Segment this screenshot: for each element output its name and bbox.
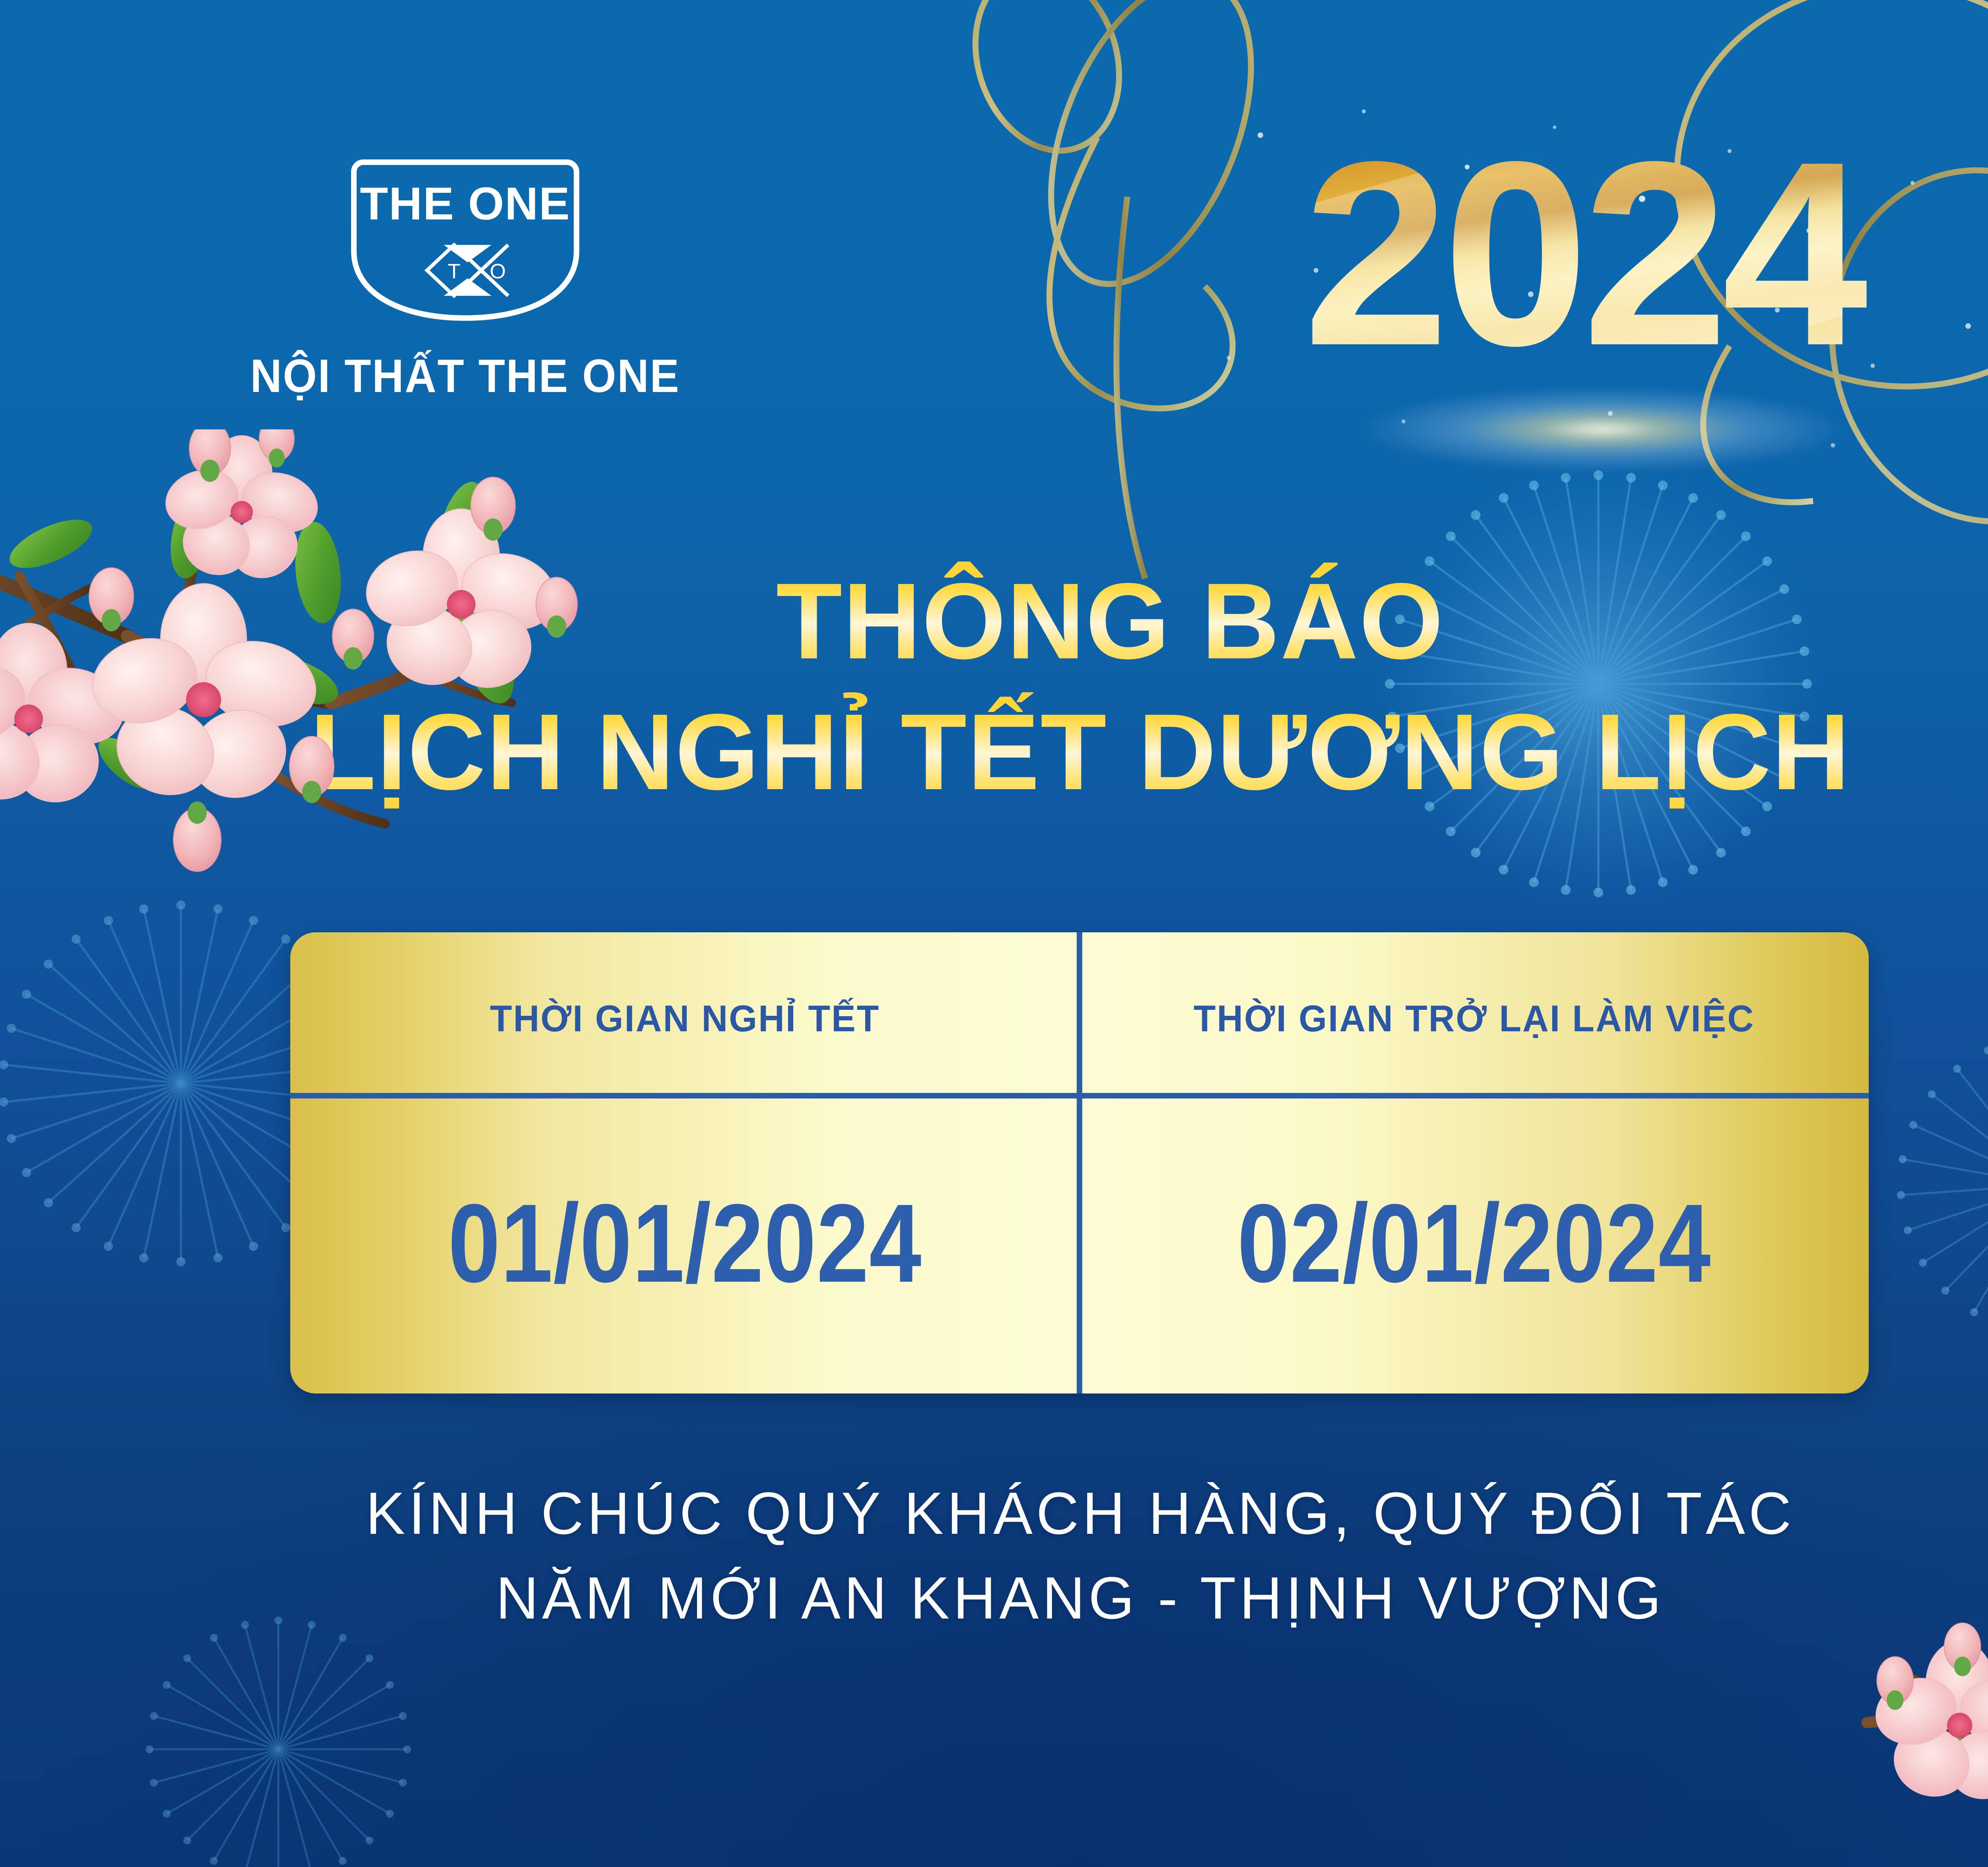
year-badge: 2024 2024: [1185, 131, 1980, 386]
shield-logo-icon: THE ONE T O: [338, 151, 592, 326]
headline-line-1: THÔNG BÁO: [60, 561, 1988, 682]
footer-line-1: KÍNH CHÚC QUÝ KHÁCH HÀNG, QUÝ ĐỐI TÁC: [11, 1471, 1988, 1556]
monogram-letter-t: T: [448, 260, 460, 283]
brand-name: NỘI THẤT THE ONE: [225, 349, 706, 403]
firework-burst-icon: [1849, 986, 1988, 1384]
leave-date-value: 01/01/2024: [448, 1179, 922, 1308]
poster-canvas: THE ONE T O NỘI THẤT THE ONE: [0, 0, 1988, 1867]
card-horizontal-divider: [290, 1093, 1869, 1098]
return-date-value: 02/01/2024: [1237, 1179, 1711, 1308]
column-header-leave: THỜI GIAN NGHỈ TẾT: [490, 997, 880, 1040]
column-value-cell: 01/01/2024: [290, 1093, 1079, 1393]
brand-logo-block: THE ONE T O NỘI THẤT THE ONE: [207, 151, 724, 403]
column-header-cell: THỜI GIAN TRỞ LẠI LÀM VIỆC: [1079, 932, 1869, 1093]
card-vertical-divider: [1077, 932, 1082, 1393]
schedule-card: THỜI GIAN NGHỈ TẾT 01/01/2024 THỜI GIAN …: [290, 932, 1869, 1393]
schedule-column-return: THỜI GIAN TRỞ LẠI LÀM VIỆC 02/01/2024: [1079, 932, 1869, 1393]
column-header-cell: THỜI GIAN NGHỈ TẾT: [290, 932, 1079, 1093]
headline-line-2: LỊCH NGHỈ TẾT DƯƠNG LỊCH: [0, 691, 1988, 813]
shield-wordmark: THE ONE: [360, 178, 571, 229]
footer-message: KÍNH CHÚC QUÝ KHÁCH HÀNG, QUÝ ĐỐI TÁC NĂ…: [0, 1471, 1988, 1640]
schedule-column-leave: THỜI GIAN NGHỈ TẾT 01/01/2024: [290, 932, 1079, 1393]
year-glow: [1264, 370, 1940, 489]
column-value-cell: 02/01/2024: [1079, 1093, 1869, 1393]
footer-line-2: NĂM MỚI AN KHANG - THỊNH VƯỢNG: [11, 1556, 1988, 1640]
monogram-letter-o: O: [490, 260, 506, 283]
column-header-return: THỜI GIAN TRỞ LẠI LÀM VIỆC: [1194, 997, 1755, 1040]
headline: THÔNG BÁO LỊCH NGHỈ TẾT DƯƠNG LỊCH: [0, 561, 1988, 812]
